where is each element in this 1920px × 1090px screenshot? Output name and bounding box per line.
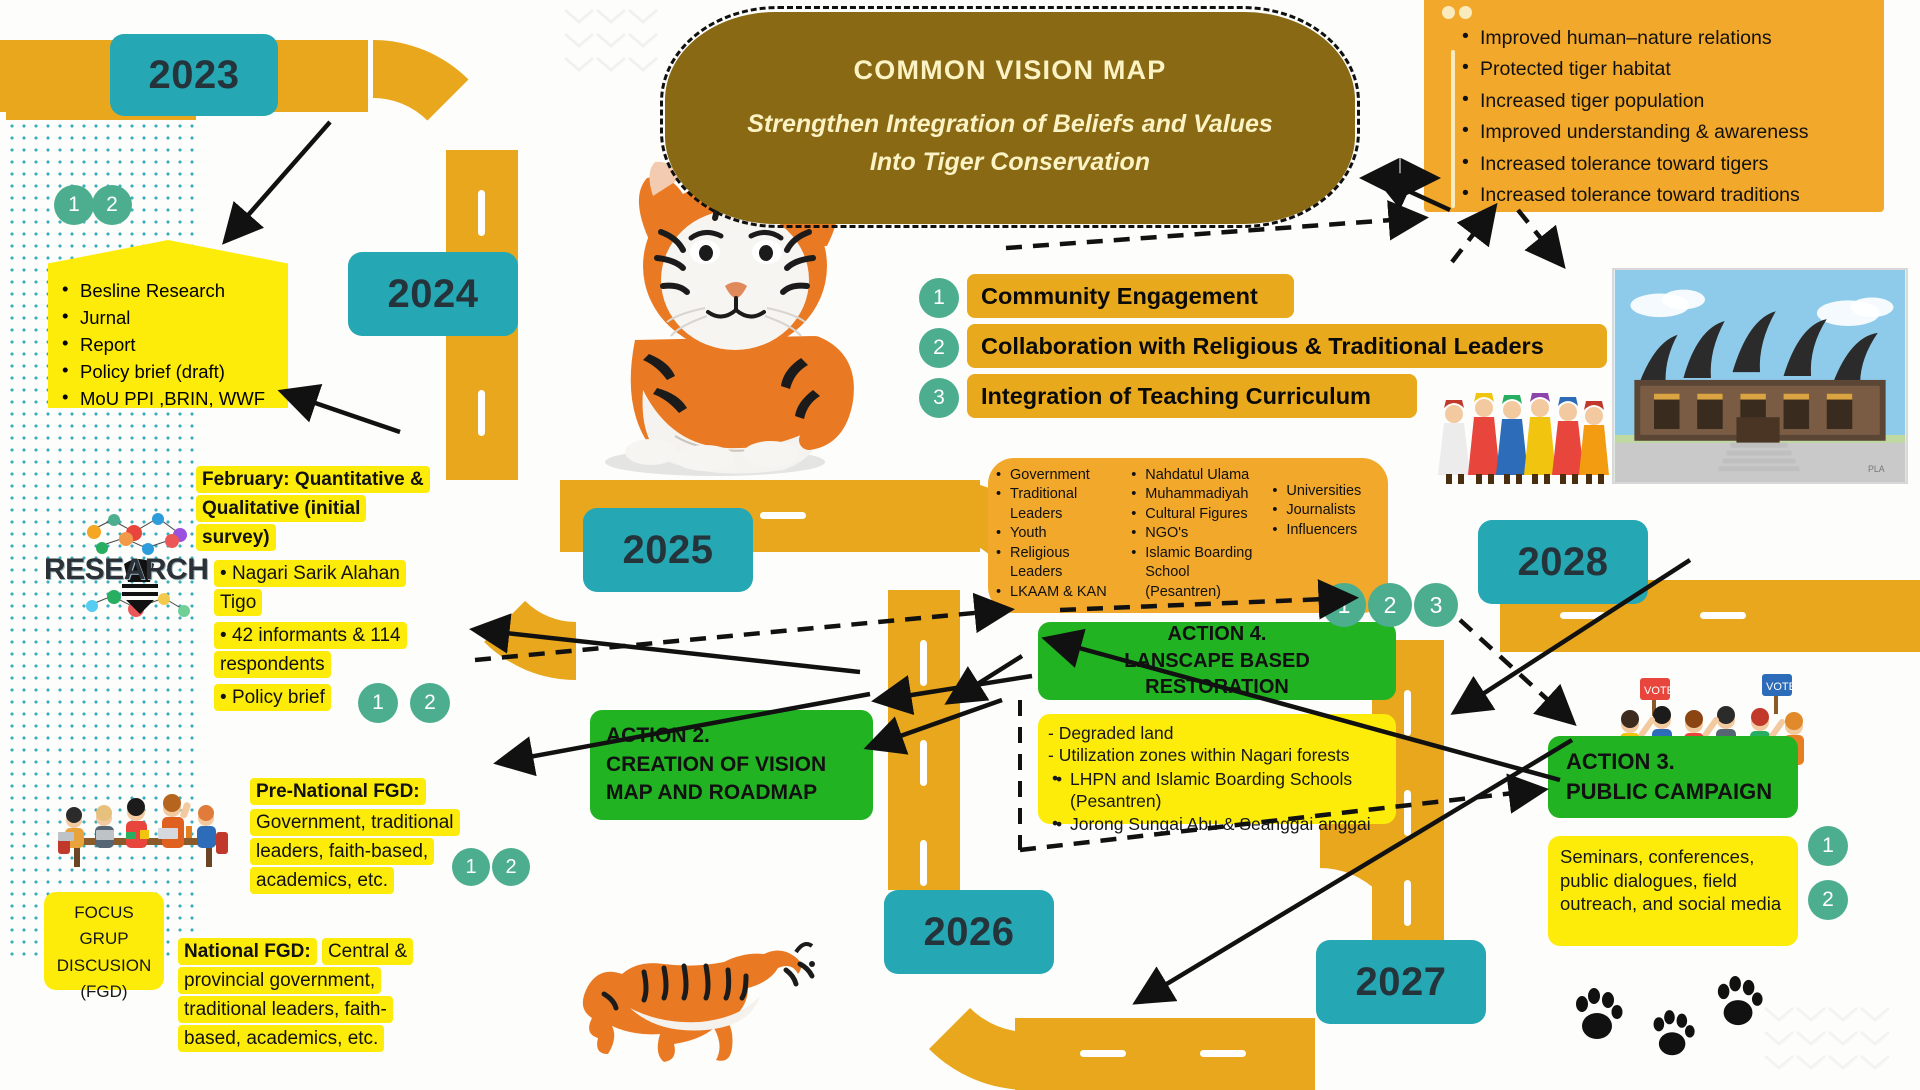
stakeholders-column-3: •Universities •Journalists •Influencers bbox=[1270, 466, 1382, 602]
tiger-illustration-walking bbox=[560, 912, 850, 1062]
action-2-line1: ACTION 2. bbox=[606, 722, 857, 751]
action-4-line1: ACTION 4. bbox=[1168, 621, 1267, 648]
badge-strategy-1: 1 bbox=[919, 278, 959, 318]
strategy-bar-3[interactable]: Integration of Teaching Curriculum bbox=[967, 374, 1417, 418]
action-4-box[interactable]: ACTION 4. LANSCAPE BASED RESTORATION bbox=[1038, 622, 1396, 700]
badge-action3-1: 1 bbox=[1808, 826, 1848, 866]
list-item: •Islamic Boarding School (Pesantren) bbox=[1129, 544, 1266, 602]
list-item: Jurnal bbox=[58, 307, 278, 329]
strategy-bar-2[interactable]: Collaboration with Religious & Tradition… bbox=[967, 324, 1607, 368]
action-2-box[interactable]: ACTION 2. CREATION OF VISION MAP AND ROA… bbox=[590, 710, 873, 820]
list-item: • Policy brief bbox=[214, 684, 331, 711]
badge-action4-1: 1 bbox=[1322, 583, 1366, 627]
list-item: •Muhammadiyah bbox=[1129, 485, 1266, 504]
list-item: • 42 informants & 114 respondents bbox=[214, 622, 407, 678]
list-item: Besline Research bbox=[58, 280, 278, 302]
paw-print-icon-1 bbox=[1572, 988, 1624, 1042]
list-item: •Journalists bbox=[1270, 501, 1382, 520]
list-item: •Influencers bbox=[1270, 521, 1382, 540]
vision-subtitle-line1: Strengthen Integration of Beliefs and Va… bbox=[747, 106, 1273, 144]
badge-survey-2: 2 bbox=[410, 683, 450, 723]
list-item: •LKAAM & KAN bbox=[994, 583, 1125, 602]
vision-subtitle-line2: Into Tiger Conservation bbox=[870, 144, 1150, 182]
fgd-meeting-illustration bbox=[40, 778, 240, 873]
pre-national-fgd-block: Pre-National FGD: Government, traditiona… bbox=[250, 778, 490, 896]
outputs-2023-box: Besline Research Jurnal Report Policy br… bbox=[48, 240, 288, 408]
common-vision-map-box: COMMON VISION MAP Strengthen Integration… bbox=[665, 12, 1355, 224]
fgd-caption-box: FOCUS GRUP DISCUSION (FGD) bbox=[44, 892, 164, 990]
year-chip-2025[interactable]: 2025 bbox=[583, 508, 753, 592]
pre-national-fgd-title: Pre-National FGD: bbox=[250, 778, 426, 805]
list-item: • Protected tiger habitat bbox=[1440, 57, 1874, 82]
action-2-line3: MAP AND ROADMAP bbox=[606, 779, 857, 808]
list-item: •Youth bbox=[994, 524, 1125, 543]
paw-print-icon-2 bbox=[1650, 1010, 1696, 1058]
badge-outputs-2: 2 bbox=[92, 185, 132, 225]
action-4-detail-line1: - Degraded land bbox=[1048, 722, 1386, 744]
list-item: • Increased tiger population bbox=[1440, 89, 1874, 114]
badge-pre-national-2: 2 bbox=[492, 848, 530, 886]
list-item: •NGO's bbox=[1129, 524, 1266, 543]
survey-2024-items: • Nagari Sarik Alahan Tigo • 42 informan… bbox=[214, 560, 430, 712]
action-4-line2: LANSCAPE BASED RESTORATION bbox=[1052, 648, 1382, 702]
year-chip-2027[interactable]: 2027 bbox=[1316, 940, 1486, 1024]
action-4-detail-list: • LHPN and Islamic Boarding Schools (Pes… bbox=[1048, 768, 1386, 835]
list-item: •Traditional Leaders bbox=[994, 485, 1125, 524]
badge-strategy-2: 2 bbox=[919, 328, 959, 368]
list-item: •Religious Leaders bbox=[994, 544, 1125, 583]
list-item: • Nagari Sarik Alahan Tigo bbox=[214, 560, 406, 616]
action-4-detail-line2: - Utilization zones within Nagari forest… bbox=[1048, 744, 1386, 766]
action-3-box[interactable]: ACTION 3. PUBLIC CAMPAIGN bbox=[1548, 736, 1798, 818]
research-logo-text: RESEARCH bbox=[44, 553, 208, 587]
stakeholders-column-2: •Nahdatul Ulama •Muhammadiyah •Cultural … bbox=[1129, 466, 1266, 602]
stakeholders-column-1: •Government •Traditional Leaders •Youth … bbox=[994, 466, 1125, 602]
outcomes-panel: • Improved human–nature relations • Prot… bbox=[1424, 0, 1884, 212]
survey-heading: February: Quantitative & Qualitative (in… bbox=[196, 466, 430, 551]
list-item: •Cultural Figures bbox=[1129, 505, 1266, 524]
list-item: Policy brief (draft) bbox=[58, 361, 278, 383]
action-4-detail-box: - Degraded land - Utilization zones with… bbox=[1038, 714, 1396, 824]
badge-action4-2: 2 bbox=[1368, 583, 1412, 627]
list-item: •Government bbox=[994, 466, 1125, 485]
list-item: • Increased tolerance toward tigers bbox=[1440, 152, 1874, 177]
outcomes-list: • Improved human–nature relations • Prot… bbox=[1440, 26, 1874, 208]
badge-pre-national-1: 1 bbox=[452, 848, 490, 886]
svg-text:PLA: PLA bbox=[1868, 464, 1885, 474]
svg-text:VOTE: VOTE bbox=[1644, 685, 1674, 697]
outputs-list: Besline Research Jurnal Report Policy br… bbox=[58, 280, 278, 410]
strategy-bar-1[interactable]: Community Engagement bbox=[967, 274, 1294, 318]
national-fgd-block: National FGD: Central & provincial gover… bbox=[178, 938, 428, 1054]
list-item: •Universities bbox=[1270, 482, 1382, 501]
action-2-line2: CREATION OF VISION bbox=[606, 751, 857, 780]
badge-survey-1: 1 bbox=[358, 683, 398, 723]
list-item: Report bbox=[58, 334, 278, 356]
chevron-pattern-decoration-bottom bbox=[1760, 1000, 1900, 1080]
list-item: MoU PPI ,BRIN, WWF bbox=[58, 388, 278, 410]
pre-national-fgd-body: Government, traditional leaders, faith-b… bbox=[250, 809, 460, 894]
year-chip-2026[interactable]: 2026 bbox=[884, 890, 1054, 974]
action-3-line1: ACTION 3. bbox=[1566, 747, 1780, 777]
survey-2024-block: February: Quantitative & Qualitative (in… bbox=[196, 466, 428, 553]
list-item: • Jorong Sungai Abu & Seanggai anggai bbox=[1048, 813, 1386, 835]
action-3-line2: PUBLIC CAMPAIGN bbox=[1566, 777, 1780, 807]
fgd-caption-line2: DISCUSION bbox=[50, 953, 158, 979]
paw-print-icon-3 bbox=[1714, 976, 1764, 1028]
badge-outputs-1: 1 bbox=[54, 185, 94, 225]
fgd-caption-line3: (FGD) bbox=[50, 979, 158, 1005]
badge-action4-3: 3 bbox=[1414, 583, 1458, 627]
year-chip-2024[interactable]: 2024 bbox=[348, 252, 518, 336]
national-fgd-title: National FGD: bbox=[178, 938, 317, 965]
traditional-costume-group-illustration bbox=[1432, 378, 1610, 488]
list-item: • LHPN and Islamic Boarding Schools (Pes… bbox=[1048, 768, 1386, 813]
badge-action3-2: 2 bbox=[1808, 880, 1848, 920]
badge-strategy-3: 3 bbox=[919, 378, 959, 418]
list-item: • Improved human–nature relations bbox=[1440, 26, 1874, 51]
list-item: • Increased tolerance toward traditions bbox=[1440, 183, 1874, 208]
action-3-detail-box: Seminars, conferences, public dialogues,… bbox=[1548, 836, 1798, 946]
fgd-caption-line1: FOCUS GRUP bbox=[50, 900, 158, 953]
vision-title: COMMON VISION MAP bbox=[854, 55, 1167, 86]
rumah-gadang-illustration: PLA bbox=[1612, 268, 1908, 484]
infographic-canvas: ” COMMON VISION MAP Strengthen Integrati… bbox=[0, 0, 1920, 1080]
svg-text:VOTE: VOTE bbox=[1766, 681, 1796, 693]
year-chip-2028[interactable]: 2028 bbox=[1478, 520, 1648, 604]
action-3-detail: Seminars, conferences, public dialogues,… bbox=[1560, 846, 1781, 914]
list-item: • Improved understanding & awareness bbox=[1440, 120, 1874, 145]
year-chip-2023[interactable]: 2023 bbox=[110, 34, 278, 116]
list-item: •Nahdatul Ulama bbox=[1129, 466, 1266, 485]
